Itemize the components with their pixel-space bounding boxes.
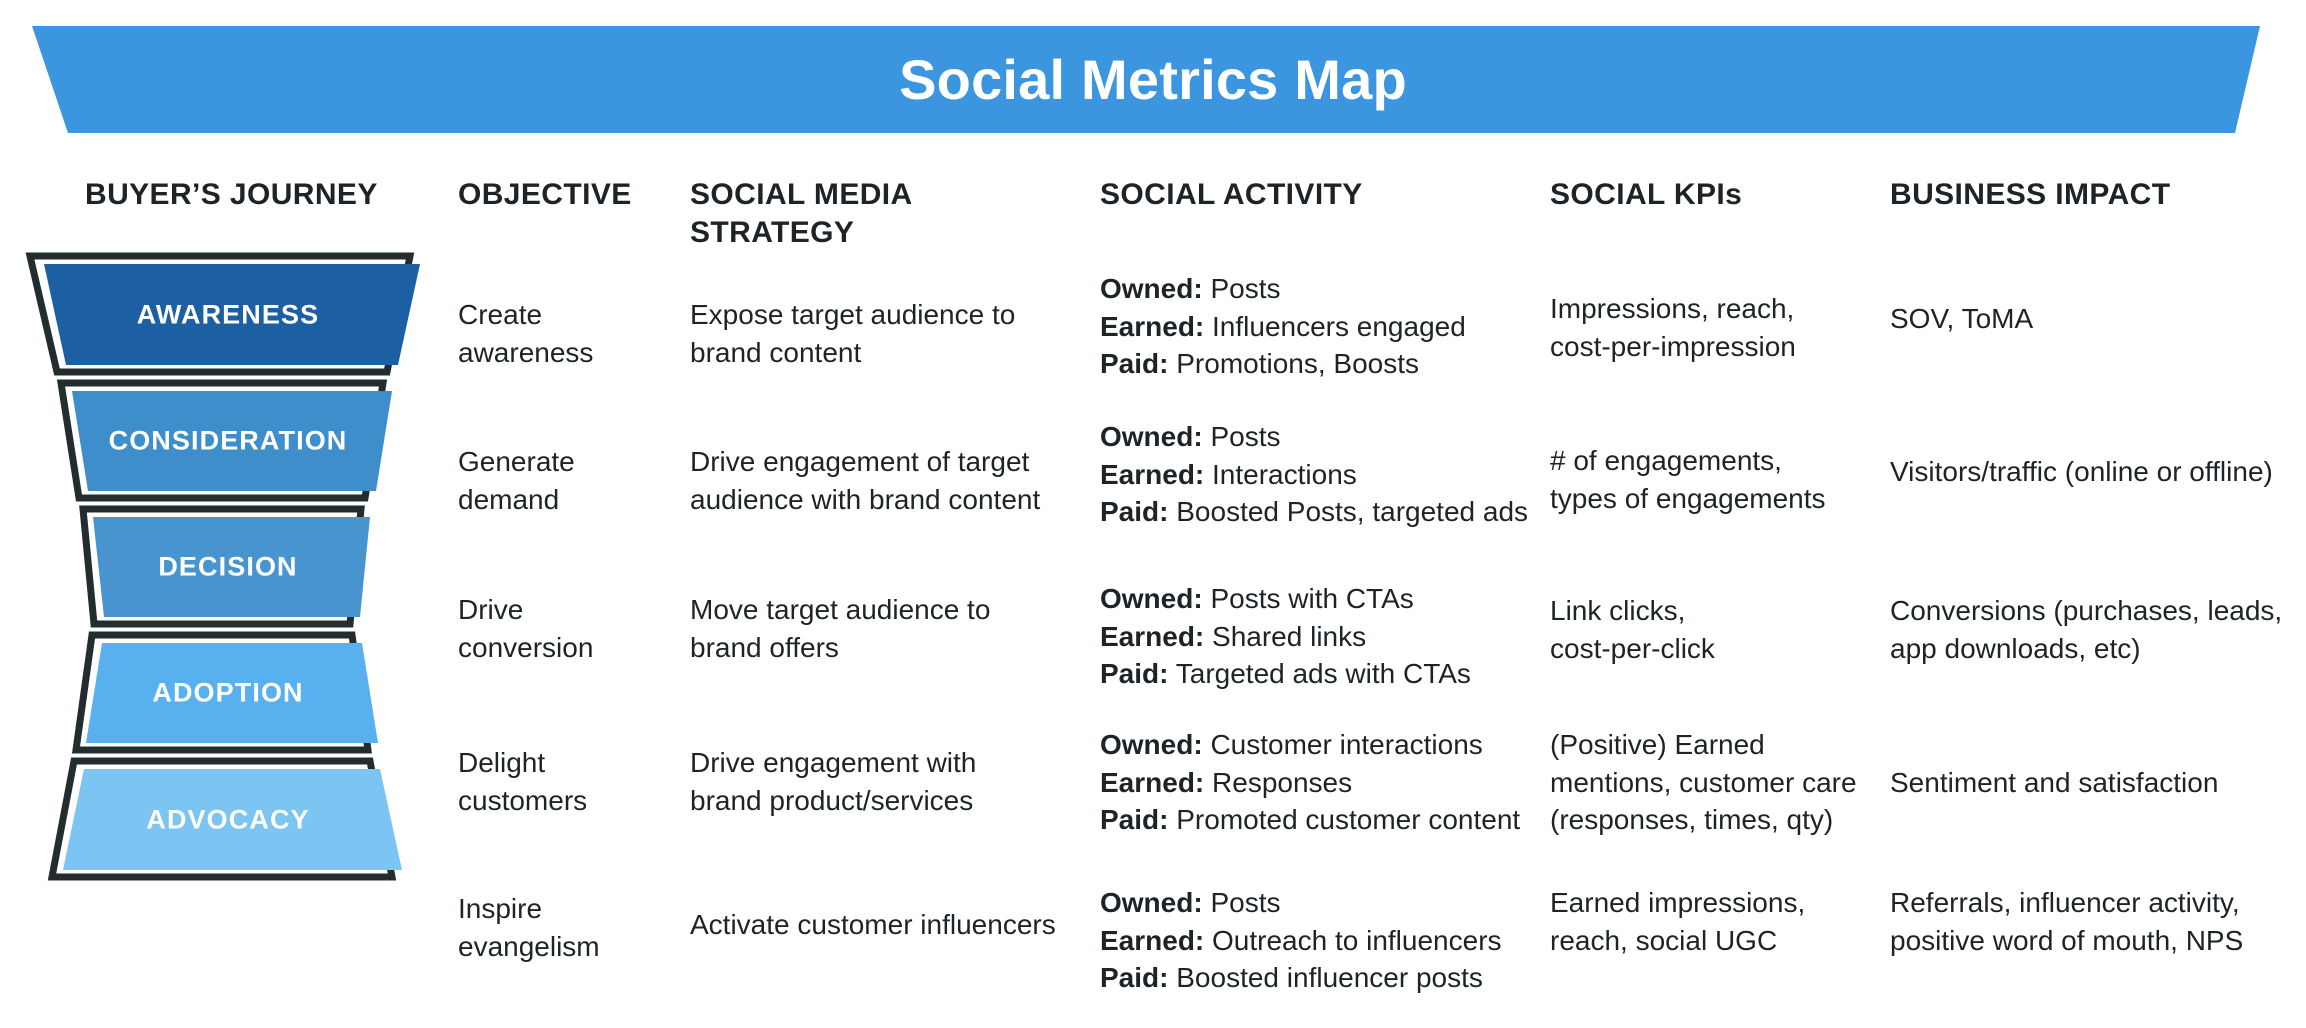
cell-kpis-decision: Link clicks, cost-per-click [1550,592,1715,667]
activity-label: Earned: [1100,311,1204,342]
text-line: cost-per-impression [1550,328,1796,366]
activity-text: Promotions, Boosts [1168,348,1419,379]
text-line: customers [458,782,587,820]
activity-text: Posts with CTAs [1203,583,1414,614]
text-line: brand content [690,334,1015,372]
cell-activity-adoption: Owned: Customer interactions Earned: Res… [1100,726,1520,839]
text-line: Expose target audience to [690,296,1015,334]
activity-paid: Paid: Boosted Posts, targeted ads [1100,493,1528,531]
text-line: awareness [458,334,593,372]
activity-label: Owned: [1100,729,1203,760]
activity-text: Posts [1203,421,1281,452]
activity-text: Boosted Posts, targeted ads [1168,496,1528,527]
cell-objective-decision: Drive conversion [458,591,593,666]
activity-text: Shared links [1204,621,1366,652]
text-line: app downloads, etc) [1890,630,2282,668]
activity-label: Paid: [1100,804,1168,835]
cell-strategy-adoption: Drive engagement with brand product/serv… [690,744,976,819]
activity-owned: Owned: Posts with CTAs [1100,580,1471,618]
text-line: (Positive) Earned [1550,726,1857,764]
cell-kpis-awareness: Impressions, reach, cost-per-impression [1550,290,1796,365]
activity-text: Posts [1203,887,1281,918]
text-line: conversion [458,629,593,667]
activity-owned: Owned: Posts [1100,270,1466,308]
column-header-business-impact: BUSINESS IMPACT [1890,176,2170,214]
activity-label: Owned: [1100,273,1203,304]
text-line: evangelism [458,928,600,966]
page-title: Social Metrics Map [0,26,2306,133]
activity-text: Influencers engaged [1204,311,1466,342]
activity-paid: Paid: Promoted customer content [1100,801,1520,839]
activity-paid: Paid: Promotions, Boosts [1100,345,1466,383]
activity-text: Boosted influencer posts [1168,962,1482,993]
text-line: Drive engagement with [690,744,976,782]
cell-objective-awareness: Create awareness [458,296,593,371]
cell-impact-awareness: SOV, ToMA [1890,300,2033,338]
text-line: (responses, times, qty) [1550,801,1857,839]
activity-label: Earned: [1100,925,1204,956]
activity-paid: Paid: Targeted ads with CTAs [1100,655,1471,693]
column-header-social-media-strategy: SOCIAL MEDIA STRATEGY [690,176,1020,251]
funnel-stage-label-adoption: ADOPTION [152,678,303,709]
cell-impact-advocacy: Referrals, influencer activity, positive… [1890,884,2243,959]
funnel-stage-label-advocacy: ADVOCACY [146,805,309,836]
column-header-line-2: STRATEGY [690,216,854,249]
activity-earned: Earned: Interactions [1100,456,1528,494]
column-header-buyers-journey: BUYER’S JOURNEY [85,176,378,214]
cell-kpis-advocacy: Earned impressions, reach, social UGC [1550,884,1805,959]
activity-text: Promoted customer content [1168,804,1520,835]
text-line: Activate customer influencers [690,906,1056,944]
activity-label: Owned: [1100,421,1203,452]
cell-kpis-consideration: # of engagements, types of engagements [1550,442,1826,517]
activity-text: Interactions [1204,459,1357,490]
cell-impact-consideration: Visitors/traffic (online or offline) [1890,453,2273,491]
activity-label: Earned: [1100,621,1204,652]
activity-text: Responses [1204,767,1352,798]
text-line: Move target audience to [690,591,990,629]
text-line: brand product/services [690,782,976,820]
activity-earned: Earned: Shared links [1100,618,1471,656]
text-line: Drive [458,591,593,629]
activity-label: Owned: [1100,583,1203,614]
text-line: Drive engagement of target [690,443,1040,481]
activity-earned: Earned: Responses [1100,764,1520,802]
text-line: Inspire [458,890,600,928]
funnel-stage-label-consideration: CONSIDERATION [109,426,348,457]
funnel-svg [20,240,450,1010]
activity-label: Owned: [1100,887,1203,918]
cell-objective-consideration: Generate demand [458,443,575,518]
activity-label: Paid: [1100,658,1168,689]
cell-activity-awareness: Owned: Posts Earned: Influencers engaged… [1100,270,1466,383]
cell-strategy-consideration: Drive engagement of target audience with… [690,443,1040,518]
text-line: cost-per-click [1550,630,1715,668]
funnel-stage-label-decision: DECISION [158,552,297,583]
activity-text: Customer interactions [1203,729,1483,760]
text-line: Visitors/traffic (online or offline) [1890,453,2273,491]
text-line: Create [458,296,593,334]
column-header-objective: OBJECTIVE [458,176,632,214]
cell-strategy-decision: Move target audience to brand offers [690,591,990,666]
cell-strategy-awareness: Expose target audience to brand content [690,296,1015,371]
cell-strategy-advocacy: Activate customer influencers [690,906,1056,944]
activity-label: Earned: [1100,459,1204,490]
activity-owned: Owned: Posts [1100,418,1528,456]
cell-objective-advocacy: Inspire evangelism [458,890,600,965]
cell-activity-consideration: Owned: Posts Earned: Interactions Paid: … [1100,418,1528,531]
text-line: demand [458,481,575,519]
text-line: types of engagements [1550,480,1826,518]
column-header-social-kpis: SOCIAL KPIs [1550,176,1742,214]
column-header-line-1: SOCIAL MEDIA [690,178,911,211]
text-line: # of engagements, [1550,442,1826,480]
activity-text: Outreach to influencers [1204,925,1501,956]
funnel-stage-label-awareness: AWARENESS [137,300,319,331]
cell-activity-decision: Owned: Posts with CTAs Earned: Shared li… [1100,580,1471,693]
cell-impact-adoption: Sentiment and satisfaction [1890,764,2218,802]
cell-activity-advocacy: Owned: Posts Earned: Outreach to influen… [1100,884,1502,997]
activity-text: Targeted ads with CTAs [1168,658,1470,689]
activity-earned: Earned: Outreach to influencers [1100,922,1502,960]
activity-text: Posts [1203,273,1281,304]
cell-kpis-adoption: (Positive) Earned mentions, customer car… [1550,726,1857,839]
activity-paid: Paid: Boosted influencer posts [1100,959,1502,997]
activity-owned: Owned: Posts [1100,884,1502,922]
text-line: brand offers [690,629,990,667]
cell-objective-adoption: Delight customers [458,744,587,819]
text-line: Conversions (purchases, leads, [1890,592,2282,630]
text-line: Delight [458,744,587,782]
text-line: Sentiment and satisfaction [1890,764,2218,802]
activity-label: Paid: [1100,962,1168,993]
text-line: audience with brand content [690,481,1040,519]
activity-label: Paid: [1100,496,1168,527]
activity-label: Earned: [1100,767,1204,798]
text-line: Earned impressions, [1550,884,1805,922]
buyer-journey-funnel: AWARENESS CONSIDERATION DECISION ADOPTIO… [20,240,450,1010]
text-line: Impressions, reach, [1550,290,1796,328]
activity-earned: Earned: Influencers engaged [1100,308,1466,346]
text-line: Referrals, influencer activity, [1890,884,2243,922]
text-line: Generate [458,443,575,481]
text-line: Link clicks, [1550,592,1715,630]
text-line: positive word of mouth, NPS [1890,922,2243,960]
column-header-social-activity: SOCIAL ACTIVITY [1100,176,1363,214]
text-line: reach, social UGC [1550,922,1805,960]
cell-impact-decision: Conversions (purchases, leads, app downl… [1890,592,2282,667]
activity-owned: Owned: Customer interactions [1100,726,1520,764]
header-banner: Social Metrics Map [0,0,2306,150]
activity-label: Paid: [1100,348,1168,379]
text-line: mentions, customer care [1550,764,1857,802]
text-line: SOV, ToMA [1890,300,2033,338]
